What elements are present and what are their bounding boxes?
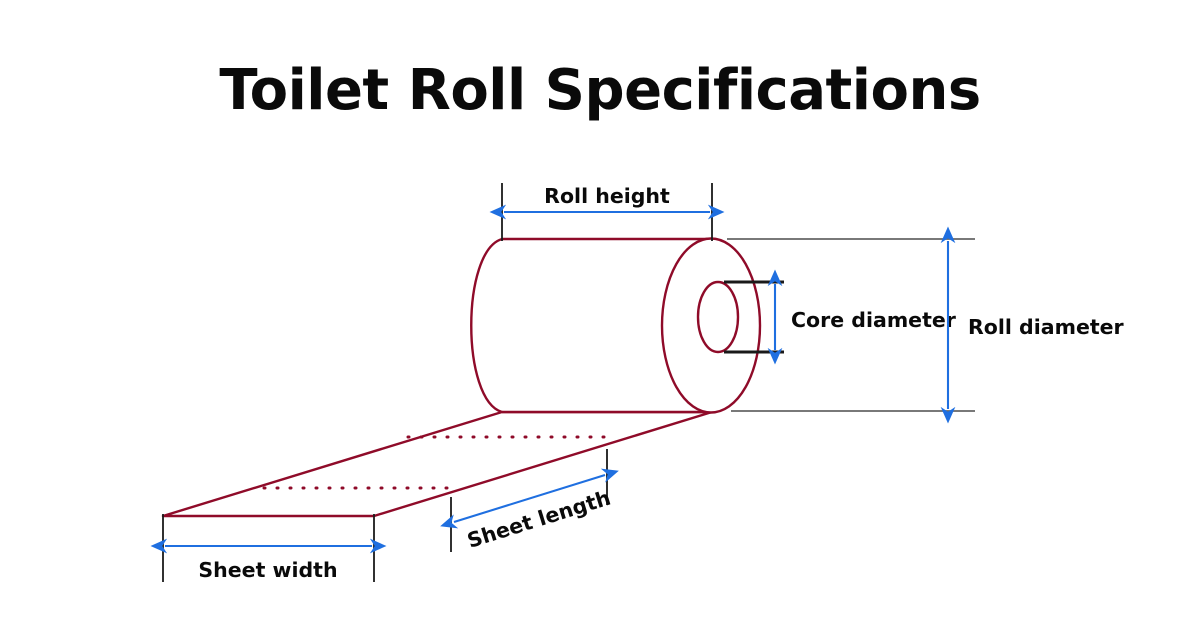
diagram-canvas: Toilet Roll Specifications: [0, 0, 1200, 640]
sheet-outline: [163, 412, 712, 516]
dimension-sheet-width: Sheet width: [163, 514, 374, 582]
roll-height-label: Roll height: [544, 184, 670, 208]
core-diameter-label: Core diameter: [791, 308, 957, 332]
sheet-width-label: Sheet width: [198, 558, 337, 582]
dimension-roll-height: Roll height: [502, 183, 712, 241]
roll-diameter-label: Roll diameter: [968, 315, 1125, 339]
roll-face: [662, 239, 760, 413]
paper-sheet: [163, 412, 712, 516]
toilet-roll-figure: Roll height Core diameter Roll diameter …: [0, 0, 1200, 640]
roll-core: [698, 282, 738, 352]
